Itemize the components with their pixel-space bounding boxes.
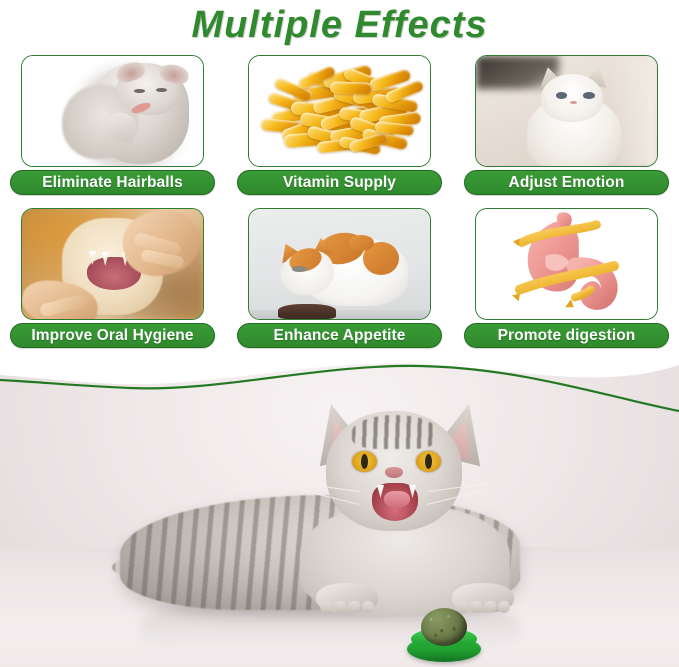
feature-label-text: Promote digestion <box>498 327 636 345</box>
feature-card-vitamin-supply[interactable]: Vitamin Supply <box>233 52 446 200</box>
feature-label-text: Vitamin Supply <box>283 174 396 192</box>
feature-photo-eliminate-hairballs <box>21 55 204 167</box>
feature-label-improve-oral-hygiene: Improve Oral Hygiene <box>10 323 215 348</box>
feature-label-eliminate-hairballs: Eliminate Hairballs <box>10 170 215 195</box>
stomach-ribbon-illustration <box>476 209 657 319</box>
hero-cat-image <box>0 355 679 667</box>
feature-label-promote-digestion: Promote digestion <box>464 323 669 348</box>
cat-eating-image <box>249 209 430 319</box>
feature-card-eliminate-hairballs[interactable]: Eliminate Hairballs <box>6 52 219 200</box>
feature-label-enhance-appetite: Enhance Appetite <box>237 323 442 348</box>
feature-label-text: Enhance Appetite <box>274 327 406 345</box>
feature-label-vitamin-supply: Vitamin Supply <box>237 170 442 195</box>
feature-label-adjust-emotion: Adjust Emotion <box>464 170 669 195</box>
page-title: Multiple Effects <box>191 4 487 47</box>
title-bar: Multiple Effects <box>0 0 679 50</box>
feature-photo-vitamin-supply <box>248 55 431 167</box>
feature-photo-adjust-emotion <box>475 55 658 167</box>
white-cat-image <box>476 56 657 166</box>
cat-teeth-image <box>22 209 203 319</box>
cat-tongue <box>384 491 410 508</box>
vitamin-capsules-image <box>249 56 430 166</box>
hero-section <box>0 355 679 667</box>
catnip-ball <box>421 608 467 646</box>
capsule <box>330 81 373 95</box>
feature-label-text: Improve Oral Hygiene <box>31 327 193 345</box>
feature-card-improve-oral-hygiene[interactable]: Improve Oral Hygiene <box>6 205 219 353</box>
feature-label-text: Eliminate Hairballs <box>42 174 183 192</box>
features-grid: Eliminate Hairballs Vitamin Supply Ad <box>0 50 679 355</box>
cat-nose <box>385 467 403 478</box>
feature-photo-enhance-appetite <box>248 208 431 320</box>
cat-eye-left <box>352 451 377 472</box>
feature-card-enhance-appetite[interactable]: Enhance Appetite <box>233 205 446 353</box>
cat-eye-right <box>416 451 441 472</box>
feature-card-adjust-emotion[interactable]: Adjust Emotion <box>460 52 673 200</box>
feature-photo-improve-oral-hygiene <box>21 208 204 320</box>
feature-label-text: Adjust Emotion <box>509 174 625 192</box>
feature-photo-promote-digestion <box>475 208 658 320</box>
catnip-ball-toy[interactable] <box>405 608 483 664</box>
cat-grooming-image <box>22 56 203 166</box>
feature-card-promote-digestion[interactable]: Promote digestion <box>460 205 673 353</box>
cat-paw-left <box>316 583 378 613</box>
